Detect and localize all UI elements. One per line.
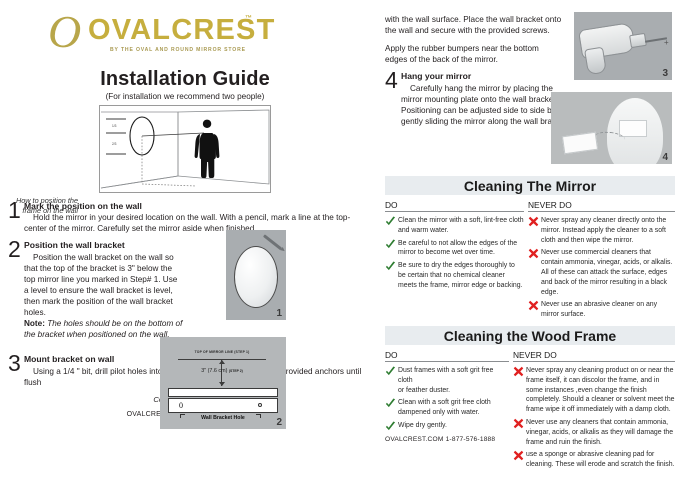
list-item: Never use an abrasive cleaner on any mir…	[528, 300, 675, 320]
svg-text:1/3: 1/3	[112, 124, 117, 128]
photo-hang-mirror: 4	[551, 92, 672, 164]
list-item: Be sure to dry the edges thoroughly to b…	[385, 261, 524, 290]
list-item-text: Never spray any cleaning product on or n…	[526, 366, 675, 415]
trademark-icon: ™	[245, 15, 252, 22]
photo-1-number: 1	[276, 308, 282, 319]
list-item: Wipe dry gently.	[385, 421, 509, 432]
check-icon	[385, 239, 398, 259]
step-4-number: 4	[385, 69, 398, 92]
list-item: Clean the mirror with a soft, lint-free …	[385, 216, 524, 236]
bracket-dimension-step: (STEP 2)	[229, 369, 243, 373]
page-subtitle: (For installation we recommend two peopl…	[8, 92, 362, 101]
panel-frame-columns: DO Dust frames with a soft grit free clo…	[385, 350, 675, 473]
x-icon	[513, 418, 526, 447]
step-1-body: Hold the mirror in your desired location…	[24, 212, 362, 234]
panel-frame-never-column: NEVER DO Never spray any cleaning produc…	[513, 350, 675, 473]
bracket-hole-left: 0	[179, 401, 183, 410]
step-2-body: Position the wall bracket on the wall so…	[24, 252, 184, 341]
list-item-text: Never spray any cleaner directly onto th…	[541, 216, 675, 245]
list-item-text: Never use any cleaners that contain ammo…	[526, 418, 675, 447]
installation-guide-page: O OVALCREST ™ BY THE OVAL AND ROUND MIRR…	[0, 0, 679, 489]
panel-mirror-title: Cleaning The Mirror	[385, 176, 675, 195]
photo-mark-position: 1	[226, 230, 286, 320]
panel-mirror-do-title: DO	[385, 200, 524, 212]
bracket-top-line-label: TOP OF MIRROR LINE (STEP 1)	[178, 350, 266, 354]
list-item-text: use a sponge or abrasive cleaning pad fo…	[526, 450, 675, 470]
list-item: Clean with a soft grit free cloth dampen…	[385, 398, 509, 418]
list-item-text: Clean the mirror with a soft, lint-free …	[398, 216, 524, 236]
list-item: use a sponge or abrasive cleaning pad fo…	[513, 450, 675, 470]
check-icon	[385, 261, 398, 290]
list-item-text: Dust frames with a soft grit free cloth …	[398, 366, 509, 395]
panel-mirror-never-column: NEVER DO Never spray any cleaner directl…	[528, 200, 675, 323]
step-2-number: 2	[8, 238, 21, 261]
list-item: Never use commercial cleaners that conta…	[528, 248, 675, 297]
bracket-hole-label: Wall Bracket Hole	[168, 415, 278, 421]
step-4-heading: Hang your mirror	[401, 71, 571, 81]
right-paragraph-1: with the wall surface. Place the wall br…	[385, 14, 563, 37]
bracket-dimension: 3" (7.6 cm) (STEP 2)	[178, 368, 266, 374]
panel-mirror-columns: DO Clean the mirror with a soft, lint-fr…	[385, 200, 675, 323]
panel-mirror-never-title: NEVER DO	[528, 200, 675, 212]
list-item: Be careful to not allow the edges of the…	[385, 239, 524, 259]
photo-3-number: 3	[662, 68, 668, 79]
x-icon	[528, 248, 541, 297]
list-item-text: Never use commercial cleaners that conta…	[541, 248, 675, 297]
panel-frame-do-title: DO	[385, 350, 509, 362]
drill-mark-icon: +	[664, 38, 669, 47]
bracket-upper-plate	[168, 388, 278, 397]
bracket-dimension-value: 3" (7.6 cm)	[201, 368, 227, 374]
panel-cleaning-wood-frame: Cleaning the Wood Frame DO Dust frames w…	[385, 326, 675, 484]
x-icon	[513, 450, 526, 470]
pencil-icon	[263, 234, 282, 250]
step-4-body-text: Carefully hang the mirror by placing the…	[401, 83, 571, 127]
photo-2-number: 2	[276, 417, 282, 428]
x-icon	[528, 216, 541, 245]
step-2-note-text: The holes should be on the bottom of the…	[24, 319, 182, 339]
x-icon	[528, 300, 541, 320]
list-item: Never spray any cleaner directly onto th…	[528, 216, 675, 245]
panel-cleaning-mirror: Cleaning The Mirror DO Clean the mirror …	[385, 176, 675, 316]
wall-bracket-illustration	[562, 132, 598, 155]
step-3-number: 3	[8, 352, 21, 375]
list-item-text: Never use an abrasive cleaner on any mir…	[541, 300, 675, 320]
step-2-heading: Position the wall bracket	[24, 240, 258, 250]
right-footer: OVALCREST.COM 1-877-576-1888	[385, 436, 509, 443]
room-diagram-svg: 1/3 2/3	[100, 106, 270, 192]
photo-bracket-diagram: TOP OF MIRROR LINE (STEP 1) 3" (7.6 cm) …	[160, 337, 286, 429]
mirror-oval-illustration	[234, 246, 278, 308]
step-4: 4 Hang your mirror Carefully hang the mi…	[385, 71, 571, 127]
panel-frame-do-column: DO Dust frames with a soft grit free clo…	[385, 350, 513, 473]
photo-drill: + 3	[574, 12, 672, 80]
drill-grip-illustration	[584, 47, 607, 76]
panel-frame-never-title: NEVER DO	[513, 350, 675, 362]
list-item-text: Wipe dry gently.	[398, 421, 447, 432]
step-2-body-text: Position the wall bracket on the wall so…	[24, 252, 184, 318]
check-icon	[385, 421, 398, 432]
room-position-diagram: 1/3 2/3	[99, 105, 271, 193]
svg-text:2/3: 2/3	[112, 142, 117, 146]
page-title: Installation Guide	[8, 68, 362, 91]
step-1: 1 Mark the position on the wall Hold the…	[8, 201, 362, 234]
list-item: Never spray any cleaning product on or n…	[513, 366, 675, 415]
step-1-number: 1	[8, 199, 21, 222]
list-item: Dust frames with a soft grit free cloth …	[385, 366, 509, 395]
brand-tagline: BY THE OVAL AND ROUND MIRROR STORE	[110, 47, 246, 53]
check-icon	[385, 216, 398, 236]
x-icon	[513, 366, 526, 415]
right-paragraph-2: Apply the rubber bumpers near the bottom…	[385, 43, 563, 66]
step-1-body-text: Hold the mirror in your desired location…	[24, 212, 362, 234]
list-item-text: Be sure to dry the edges thoroughly to b…	[398, 261, 524, 290]
list-item-text: Clean with a soft grit free cloth dampen…	[398, 398, 509, 418]
check-icon	[385, 366, 398, 395]
step-1-heading: Mark the position on the wall	[24, 201, 362, 211]
panel-frame-title: Cleaning the Wood Frame	[385, 326, 675, 345]
bracket-hole-right	[258, 403, 262, 407]
check-icon	[385, 398, 398, 418]
list-item: Never use any cleaners that contain ammo…	[513, 418, 675, 447]
step-2-note-label: Note:	[24, 319, 45, 328]
photo-4-number: 4	[662, 152, 668, 163]
mounting-plate-illustration	[619, 120, 647, 137]
brand-logo: O OVALCREST ™ BY THE OVAL AND ROUND MIRR…	[48, 8, 362, 60]
list-item-text: Be careful to not allow the edges of the…	[398, 239, 524, 259]
panel-mirror-do-column: DO Clean the mirror with a soft, lint-fr…	[385, 200, 528, 323]
step-4-body: Carefully hang the mirror by placing the…	[401, 83, 571, 127]
step-2: 2 Position the wall bracket Position the…	[8, 240, 258, 340]
